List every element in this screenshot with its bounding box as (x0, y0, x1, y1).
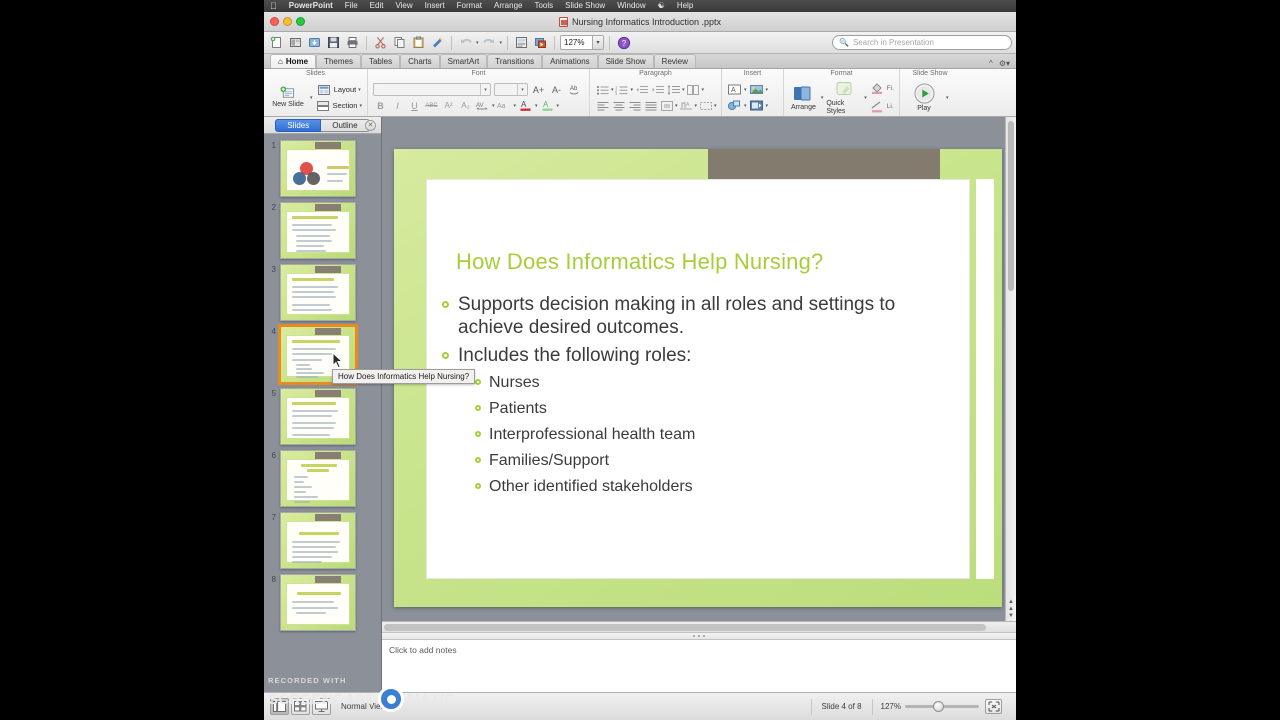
thumbnail-text-line (296, 235, 330, 237)
thumbnail-text-line (296, 368, 312, 370)
slide-thumbnail-1[interactable]: 1 (264, 140, 381, 202)
thumbnail-text-line (296, 250, 326, 252)
sub-bullet-item: Nurses (475, 372, 962, 394)
sub-bullet-item: Patients (475, 398, 962, 420)
shrink-font-button[interactable]: A- (549, 83, 564, 97)
thumbnail-text-line (327, 180, 343, 182)
thumbnail-text-line (292, 561, 322, 563)
bullet-marker (442, 301, 449, 308)
zoom-level-value: 127% (564, 38, 584, 47)
slide-thumbnail-2[interactable]: 2 (264, 202, 381, 264)
thumbnail-text-line (292, 304, 330, 306)
font-color-dropdown-icon[interactable]: ▾ (535, 103, 538, 109)
increase-indent-icon[interactable] (650, 83, 665, 97)
thumbnail-text-line (296, 376, 318, 378)
thumbnail-text-line (292, 601, 334, 603)
media-browser-icon[interactable] (532, 34, 549, 51)
thumbnail-text-line (292, 551, 338, 553)
media-icon[interactable] (749, 99, 764, 113)
align-center-icon[interactable] (611, 99, 626, 113)
line-spacing-dropdown-icon[interactable]: ▾ (682, 87, 685, 93)
thumbnail-skin (281, 265, 355, 320)
numbered-list-icon[interactable]: 123 (615, 83, 630, 97)
sub-bullet-item: Other identified stakeholders (475, 476, 962, 498)
thumbnail-inner (286, 149, 350, 191)
slide-editing-area: How Does Informatics Help Nursing? Suppo… (382, 117, 1016, 692)
font-size-input[interactable]: ▾ (494, 83, 528, 96)
group-body-slideshow: Play ▾ (905, 79, 955, 116)
thumbnail-text-line (292, 353, 332, 355)
document-title: Nursing Informatics Introduction .pptx (572, 17, 721, 27)
slide-body-text[interactable]: Supports decision making in all roles an… (442, 293, 962, 502)
vertical-align-dropdown-icon[interactable]: ▾ (675, 103, 678, 109)
zoom-level-field[interactable]: 127% ▾ (560, 35, 604, 50)
thumbnail-text-line (292, 556, 332, 558)
screen-root:  PowerPoint File Edit View Insert Forma… (0, 0, 1280, 720)
convert-smartart-dropdown-icon[interactable]: ▾ (695, 103, 698, 109)
zoom-slider-knob[interactable] (933, 701, 944, 712)
slide-number: 1 (266, 140, 280, 152)
svg-text:Aa: Aa (497, 103, 506, 110)
format-painter-icon[interactable] (429, 34, 446, 51)
new-document-icon[interactable] (268, 34, 285, 51)
copy-icon[interactable] (391, 34, 408, 51)
document-title-wrap: Nursing Informatics Introduction .pptx (264, 17, 1016, 27)
group-label-paragraph: Paragraph (595, 69, 716, 79)
open-recent-icon[interactable] (306, 34, 323, 51)
sub-bullet-marker (475, 379, 481, 385)
notes-pane[interactable]: Click to add notes (382, 640, 1016, 692)
thumbnail-title-line (292, 340, 340, 343)
columns-icon[interactable] (686, 83, 701, 97)
layout-dropdown-icon[interactable]: ▾ (358, 87, 361, 93)
font-name-dropdown-icon[interactable]: ▾ (480, 84, 490, 95)
line-color-label: Li. (887, 103, 894, 110)
section-button[interactable]: Section ▾ (315, 99, 362, 113)
venn-circle-gray (307, 172, 320, 185)
thumbnail-title-line (327, 166, 349, 169)
view-label: Normal View (341, 702, 386, 711)
status-bar-right: Slide 4 of 8 127% (811, 699, 1011, 715)
thumbnail-image[interactable] (280, 264, 356, 321)
new-slide-icon (280, 87, 295, 101)
text-box-options-dropdown-icon[interactable]: ▾ (714, 103, 717, 109)
tab-outline[interactable]: Outline (321, 119, 369, 132)
horizontal-scrollbar[interactable] (382, 621, 1016, 632)
bluetooth-icon[interactable]: ☯ (652, 0, 671, 12)
slide-show-view-button[interactable] (312, 698, 331, 715)
shapes-icon[interactable] (727, 99, 742, 113)
arrange-button[interactable]: Arrange (789, 84, 818, 112)
sub-bullet-marker (475, 457, 481, 463)
thumbnail-text-line (292, 607, 338, 609)
redo-icon[interactable] (481, 34, 498, 51)
tab-review[interactable]: Review (654, 54, 696, 68)
grow-font-button[interactable]: A+ (531, 83, 546, 97)
slide-list[interactable]: 1 (264, 134, 381, 692)
bold-button[interactable]: B (373, 99, 388, 113)
thumbnail-inner (286, 211, 350, 253)
vertical-align-icon[interactable] (659, 99, 674, 113)
arrange-icon (792, 84, 814, 104)
powerpoint-window:  PowerPoint File Edit View Insert Forma… (264, 0, 1016, 720)
svg-text:A: A (686, 102, 690, 108)
align-right-icon[interactable] (627, 99, 642, 113)
slide-number: 5 (266, 388, 280, 400)
quick-styles-label: Quick Styles (826, 100, 861, 116)
scrollbar-thumb-horizontal[interactable] (384, 624, 986, 631)
scroll-prev-slide-icon[interactable]: ▲ (1008, 606, 1014, 612)
bullet-item: Supports decision making in all roles an… (442, 293, 962, 339)
fit-to-window-icon[interactable] (985, 699, 1002, 714)
chevron-up-icon[interactable]: ^ (989, 59, 993, 68)
thumbnail-title-line (307, 469, 329, 472)
svg-text:3: 3 (615, 91, 618, 96)
bullet-text: Supports decision making in all roles an… (458, 293, 962, 339)
align-left-icon[interactable] (595, 99, 610, 113)
notes-placeholder: Click to add notes (389, 645, 457, 655)
thumbnail-inner (286, 521, 350, 563)
play-icon (912, 82, 936, 105)
slide-title[interactable]: How Does Informatics Help Nursing? (456, 249, 824, 275)
paragraph-row-2: ▾ A ▾ ▾ (595, 99, 717, 113)
thumbnail-text-line (292, 286, 338, 288)
thumbnail-text-line (296, 364, 310, 366)
font-color-icon[interactable]: A (518, 99, 533, 113)
bullet-list-icon[interactable] (595, 83, 610, 97)
media-dropdown-icon[interactable]: ▾ (766, 103, 769, 109)
sub-bullet-item: Interprofessional health team (475, 424, 962, 446)
thumbnail-inner (286, 583, 350, 625)
text-highlight-icon[interactable]: A (540, 99, 555, 113)
thumbnail-text-line (294, 486, 312, 488)
thumbnail-skin (281, 451, 355, 506)
undo-icon[interactable] (457, 34, 474, 51)
arrange-label: Arrange (791, 104, 816, 112)
svg-text:?: ? (621, 39, 626, 48)
numbered-list-dropdown-icon[interactable]: ▾ (631, 87, 634, 93)
slide-number: 4 (266, 326, 280, 338)
sub-bullet-text: Interprofessional health team (489, 424, 695, 446)
picture-icon[interactable] (749, 83, 764, 97)
thumbnail-text-line (292, 224, 332, 226)
text-box-icon[interactable]: A (727, 83, 742, 97)
slide-canvas[interactable]: How Does Informatics Help Nursing? Suppo… (382, 117, 1016, 621)
play-button[interactable]: Play (905, 82, 943, 113)
new-slide-button[interactable]: New Slide (269, 87, 307, 109)
slide-sorter-view-button[interactable] (291, 698, 310, 715)
scroll-up-icon[interactable]: ▲ (1008, 599, 1014, 605)
bullet-marker (442, 352, 449, 359)
section-dropdown-icon[interactable]: ▾ (359, 103, 362, 109)
window-title-bar: Nursing Informatics Introduction .pptx (264, 12, 1016, 32)
slide-number: 2 (266, 202, 280, 214)
paste-icon[interactable] (410, 34, 427, 51)
slide-thumbnail-6[interactable]: 6 (264, 450, 381, 512)
mac-menu-bar:  PowerPoint File Edit View Insert Forma… (264, 0, 1016, 12)
insert-row-2: ▾ ▾ (727, 99, 768, 113)
slide-thumbnail-3[interactable]: 3 (264, 264, 381, 326)
current-slide[interactable]: How Does Informatics Help Nursing? Suppo… (394, 149, 1002, 607)
new-slide-dropdown-icon[interactable]: ▾ (310, 95, 313, 101)
toolbar-separator-5 (609, 36, 610, 50)
font-row-1: ▾ ▾ A+ A- Ab (373, 83, 582, 97)
thumbnail-text-line (294, 481, 304, 483)
group-label-format: Format (789, 69, 894, 79)
tab-transitions[interactable]: Transitions (487, 54, 542, 68)
thumbnail-title-line (292, 402, 336, 405)
gear-icon[interactable]: ⚙▾ (999, 59, 1010, 68)
superscript-button[interactable]: A² (441, 99, 456, 113)
status-bar: Normal View Slide 4 of 8 127% (264, 692, 1016, 720)
slide-tooltip: How Does Informatics Help Nursing? (332, 369, 475, 384)
thumbnail-text-line (294, 501, 310, 503)
thumbnail-image[interactable] (280, 574, 356, 631)
insert-row-1: A ▾ ▾ (727, 83, 768, 97)
ribbon-group-slides: Slides New Slide ▾ La (264, 69, 368, 116)
sub-bullet-item: Families/Support (475, 450, 962, 472)
strikethrough-button[interactable]: ABC (424, 99, 439, 113)
toolbar-separator-2 (451, 36, 452, 50)
svg-text:AV: AV (476, 103, 484, 109)
home-icon: ⌂ (278, 57, 283, 66)
character-spacing-dropdown-icon[interactable]: ▾ (492, 103, 495, 109)
zoom-stepper-icon[interactable]: ▾ (592, 36, 603, 49)
slide-number: 3 (266, 264, 280, 276)
zoom-slider-track[interactable] (905, 705, 979, 708)
quick-styles-dropdown-icon[interactable]: ▾ (864, 95, 867, 101)
thumbnail-text-line (292, 427, 334, 429)
thumbnail-text-line (292, 541, 340, 543)
menu-item-slide-show[interactable]: Slide Show (559, 0, 611, 12)
character-spacing-icon[interactable]: AV (475, 99, 490, 113)
font-size-dropdown-icon[interactable]: ▾ (517, 84, 527, 95)
thumbnail-skin (281, 513, 355, 568)
thumbnail-title-line (292, 278, 334, 281)
bullet-list-dropdown-icon[interactable]: ▾ (611, 87, 614, 93)
ribbon-tab-bar: ⌂ Home Themes Tables Charts SmartArt Tra… (264, 54, 1016, 69)
thumbnail-text-line (292, 291, 334, 293)
slide-counter: Slide 4 of 8 (811, 699, 872, 715)
thumbnail-image[interactable] (280, 140, 356, 197)
thumbnail-image[interactable] (280, 450, 356, 507)
text-highlight-dropdown-icon[interactable]: ▾ (557, 103, 560, 109)
scroll-next-slide-icon[interactable]: ▼ (1008, 613, 1014, 619)
group-label-font: Font (373, 69, 584, 79)
new-from-template-icon[interactable] (287, 34, 304, 51)
clear-formatting-icon[interactable]: Ab (567, 83, 582, 97)
notes-splitter[interactable] (382, 632, 1016, 640)
change-case-dropdown-icon[interactable]: ▾ (514, 103, 517, 109)
cut-icon[interactable] (372, 34, 389, 51)
menu-item-powerpoint[interactable]: PowerPoint (283, 0, 339, 12)
slide-number: 7 (266, 512, 280, 524)
shapes-dropdown-icon[interactable]: ▾ (744, 103, 747, 109)
save-icon[interactable] (325, 34, 342, 51)
zoom-percent-label: 127% (881, 702, 901, 711)
picture-dropdown-icon[interactable]: ▾ (766, 87, 769, 93)
sub-bullet-text: Patients (489, 398, 547, 420)
tab-home-label: Home (286, 57, 308, 66)
slide-thumbnail-panel: Slides Outline ✕ 1 (264, 117, 382, 692)
slide-thumbnail-7[interactable]: 7 (264, 512, 381, 574)
presentation-file-icon (559, 17, 568, 27)
play-dropdown-icon[interactable]: ▾ (946, 95, 949, 101)
thumbnail-image[interactable] (280, 388, 356, 445)
sub-bullet-marker (475, 483, 481, 489)
tab-themes[interactable]: Themes (316, 54, 361, 68)
svg-text:A: A (521, 100, 527, 109)
slide-thumbnail-8[interactable]: 8 (264, 574, 381, 636)
thumbnail-text-line (296, 245, 324, 247)
font-name-input[interactable]: ▾ (373, 83, 491, 96)
ribbon-group-paragraph: Paragraph ▾ 123 ▾ (590, 69, 722, 116)
toolbar-separator-3 (507, 36, 508, 50)
svg-text:A: A (731, 87, 736, 94)
arrange-dropdown-icon[interactable]: ▾ (821, 95, 824, 101)
bullet-text: Includes the following roles: (458, 344, 691, 367)
thumbnail-text-line (292, 359, 322, 361)
fill-color-button[interactable]: Fi. (870, 82, 894, 96)
group-label-slideshow: Slide Show (905, 69, 955, 79)
underline-button[interactable]: U (407, 99, 422, 113)
show-notes-icon[interactable] (513, 34, 530, 51)
ribbon-group-insert: Insert A ▾ ▾ (722, 69, 784, 116)
group-label-slides: Slides (269, 69, 362, 79)
thumbnail-image[interactable] (280, 202, 356, 259)
group-body-font: ▾ ▾ A+ A- Ab B I (373, 79, 584, 116)
line-color-button[interactable]: Li. (870, 100, 894, 114)
tab-home[interactable]: ⌂ Home (270, 54, 316, 68)
grip-dot (703, 635, 705, 637)
bullet-item: Includes the following roles: (442, 344, 962, 367)
thumbnail-text-line (327, 173, 347, 175)
thumbnail-text-line (292, 296, 336, 298)
menu-item-help[interactable]: Help (671, 0, 699, 12)
search-input[interactable]: 🔍 Search in Presentation (832, 35, 1012, 50)
tab-tables[interactable]: Tables (361, 54, 400, 68)
thumbnail-skin (281, 203, 355, 258)
thumbnail-text-line (292, 546, 336, 548)
vertical-scrollbar[interactable]: ▲ ▲ ▼ (1005, 117, 1016, 621)
thumbnail-inner (286, 459, 350, 501)
line-spacing-icon[interactable] (666, 83, 681, 97)
decrease-indent-icon[interactable] (634, 83, 649, 97)
menu-item-file[interactable]: File (339, 0, 364, 12)
undo-dropdown-icon[interactable]: ▾ (476, 40, 479, 46)
change-case-icon[interactable]: Aa (497, 99, 512, 113)
menu-item-edit[interactable]: Edit (364, 0, 390, 12)
menu-item-tools[interactable]: Tools (528, 0, 559, 12)
italic-button[interactable]: I (390, 99, 405, 113)
line-color-icon (870, 100, 885, 114)
thumbnail-text-line (292, 348, 336, 350)
thumbnail-title-line (292, 216, 338, 219)
thumbnail-text-line (292, 309, 332, 311)
group-body-slides: New Slide ▾ Layout ▾ (269, 79, 362, 116)
text-box-options-icon[interactable] (698, 99, 713, 113)
columns-dropdown-icon[interactable]: ▾ (702, 87, 705, 93)
thumbnail-inner (286, 397, 350, 439)
tab-animations[interactable]: Animations (542, 54, 598, 68)
tab-slides[interactable]: Slides (275, 119, 321, 132)
apple-icon[interactable]:  (268, 1, 283, 11)
thumbnail-text-line (294, 476, 308, 478)
group-body-insert: A ▾ ▾ ▾ (727, 79, 778, 116)
thumbnail-inner (286, 273, 350, 315)
sub-bullet-list: Nurses Patients Interprofessional health… (442, 372, 962, 498)
slide-thumbnail-5[interactable]: 5 (264, 388, 381, 450)
group-label-insert: Insert (727, 69, 778, 79)
justify-icon[interactable] (643, 99, 658, 113)
grip-dot (698, 635, 700, 637)
layout-button[interactable]: Layout ▾ (317, 83, 361, 97)
thumbnail-skin (281, 575, 355, 630)
group-body-format: Arrange ▾ Quick Styles ▾ (789, 79, 894, 116)
scrollbar-thumb[interactable] (1008, 121, 1014, 291)
thumbnail-text-line (292, 410, 338, 412)
redo-dropdown-icon[interactable]: ▾ (500, 40, 503, 46)
thumbnail-skin (281, 389, 355, 444)
ribbon-group-format: Format Arrange ▾ Quick Styles (784, 69, 900, 116)
tab-charts[interactable]: Charts (400, 54, 440, 68)
convert-smartart-icon[interactable]: A (679, 99, 694, 113)
text-box-dropdown-icon[interactable]: ▾ (744, 87, 747, 93)
view-buttons (270, 698, 331, 715)
sub-bullet-text: Nurses (489, 372, 540, 394)
venn-circle-blue (293, 172, 306, 185)
sub-bullet-text: Families/Support (489, 450, 609, 472)
help-icon[interactable]: ? (615, 34, 632, 51)
scroll-arrows[interactable]: ▲ ▲ ▼ (1006, 599, 1016, 619)
ribbon-group-font: Font ▾ ▾ A+ A- Ab (368, 69, 590, 116)
thumbnail-text-line (292, 229, 336, 231)
menu-item-window[interactable]: Window (611, 0, 651, 12)
mouse-cursor (332, 352, 344, 375)
ribbon-content: Slides New Slide ▾ La (264, 69, 1016, 117)
main-area: Slides Outline ✕ 1 (264, 117, 1016, 692)
ribbon-tab-right-controls: ^ ⚙▾ (989, 59, 1016, 68)
thumbnail-text-line (292, 422, 336, 424)
thumbnail-skin (281, 141, 355, 196)
slide-number: 8 (266, 574, 280, 586)
venn-diagram (292, 162, 322, 190)
menu-item-format[interactable]: Format (451, 0, 488, 12)
quick-styles-button[interactable]: Quick Styles (826, 80, 861, 116)
play-label: Play (917, 105, 931, 113)
subscript-button[interactable]: A₂ (458, 99, 473, 113)
ribbon-group-slideshow: Slide Show Play ▾ (900, 69, 960, 116)
thumbnail-text-line (294, 496, 318, 498)
thumbnail-image[interactable] (280, 512, 356, 569)
standard-toolbar: ▾ ▾ 127% ▾ ? 🔍 Search in Pre (264, 32, 1016, 54)
slides-group-column: Layout ▾ Section ▾ (315, 83, 362, 113)
normal-view-button[interactable] (270, 698, 289, 715)
close-icon[interactable]: ✕ (365, 120, 376, 131)
fill-color-label: Fi. (887, 85, 894, 92)
thumbnail-text-line (296, 612, 326, 614)
menu-item-arrange[interactable]: Arrange (488, 0, 528, 12)
zoom-slider[interactable]: 127% (872, 699, 1010, 715)
menu-item-insert[interactable]: Insert (419, 0, 451, 12)
thumbnail-text-line (294, 491, 306, 493)
grip-dot (693, 635, 695, 637)
tab-slide-show[interactable]: Slide Show (598, 54, 654, 68)
search-placeholder: Search in Presentation (853, 38, 934, 47)
print-icon[interactable] (344, 34, 361, 51)
tab-smartart[interactable]: SmartArt (440, 54, 488, 68)
menu-item-view[interactable]: View (389, 0, 418, 12)
